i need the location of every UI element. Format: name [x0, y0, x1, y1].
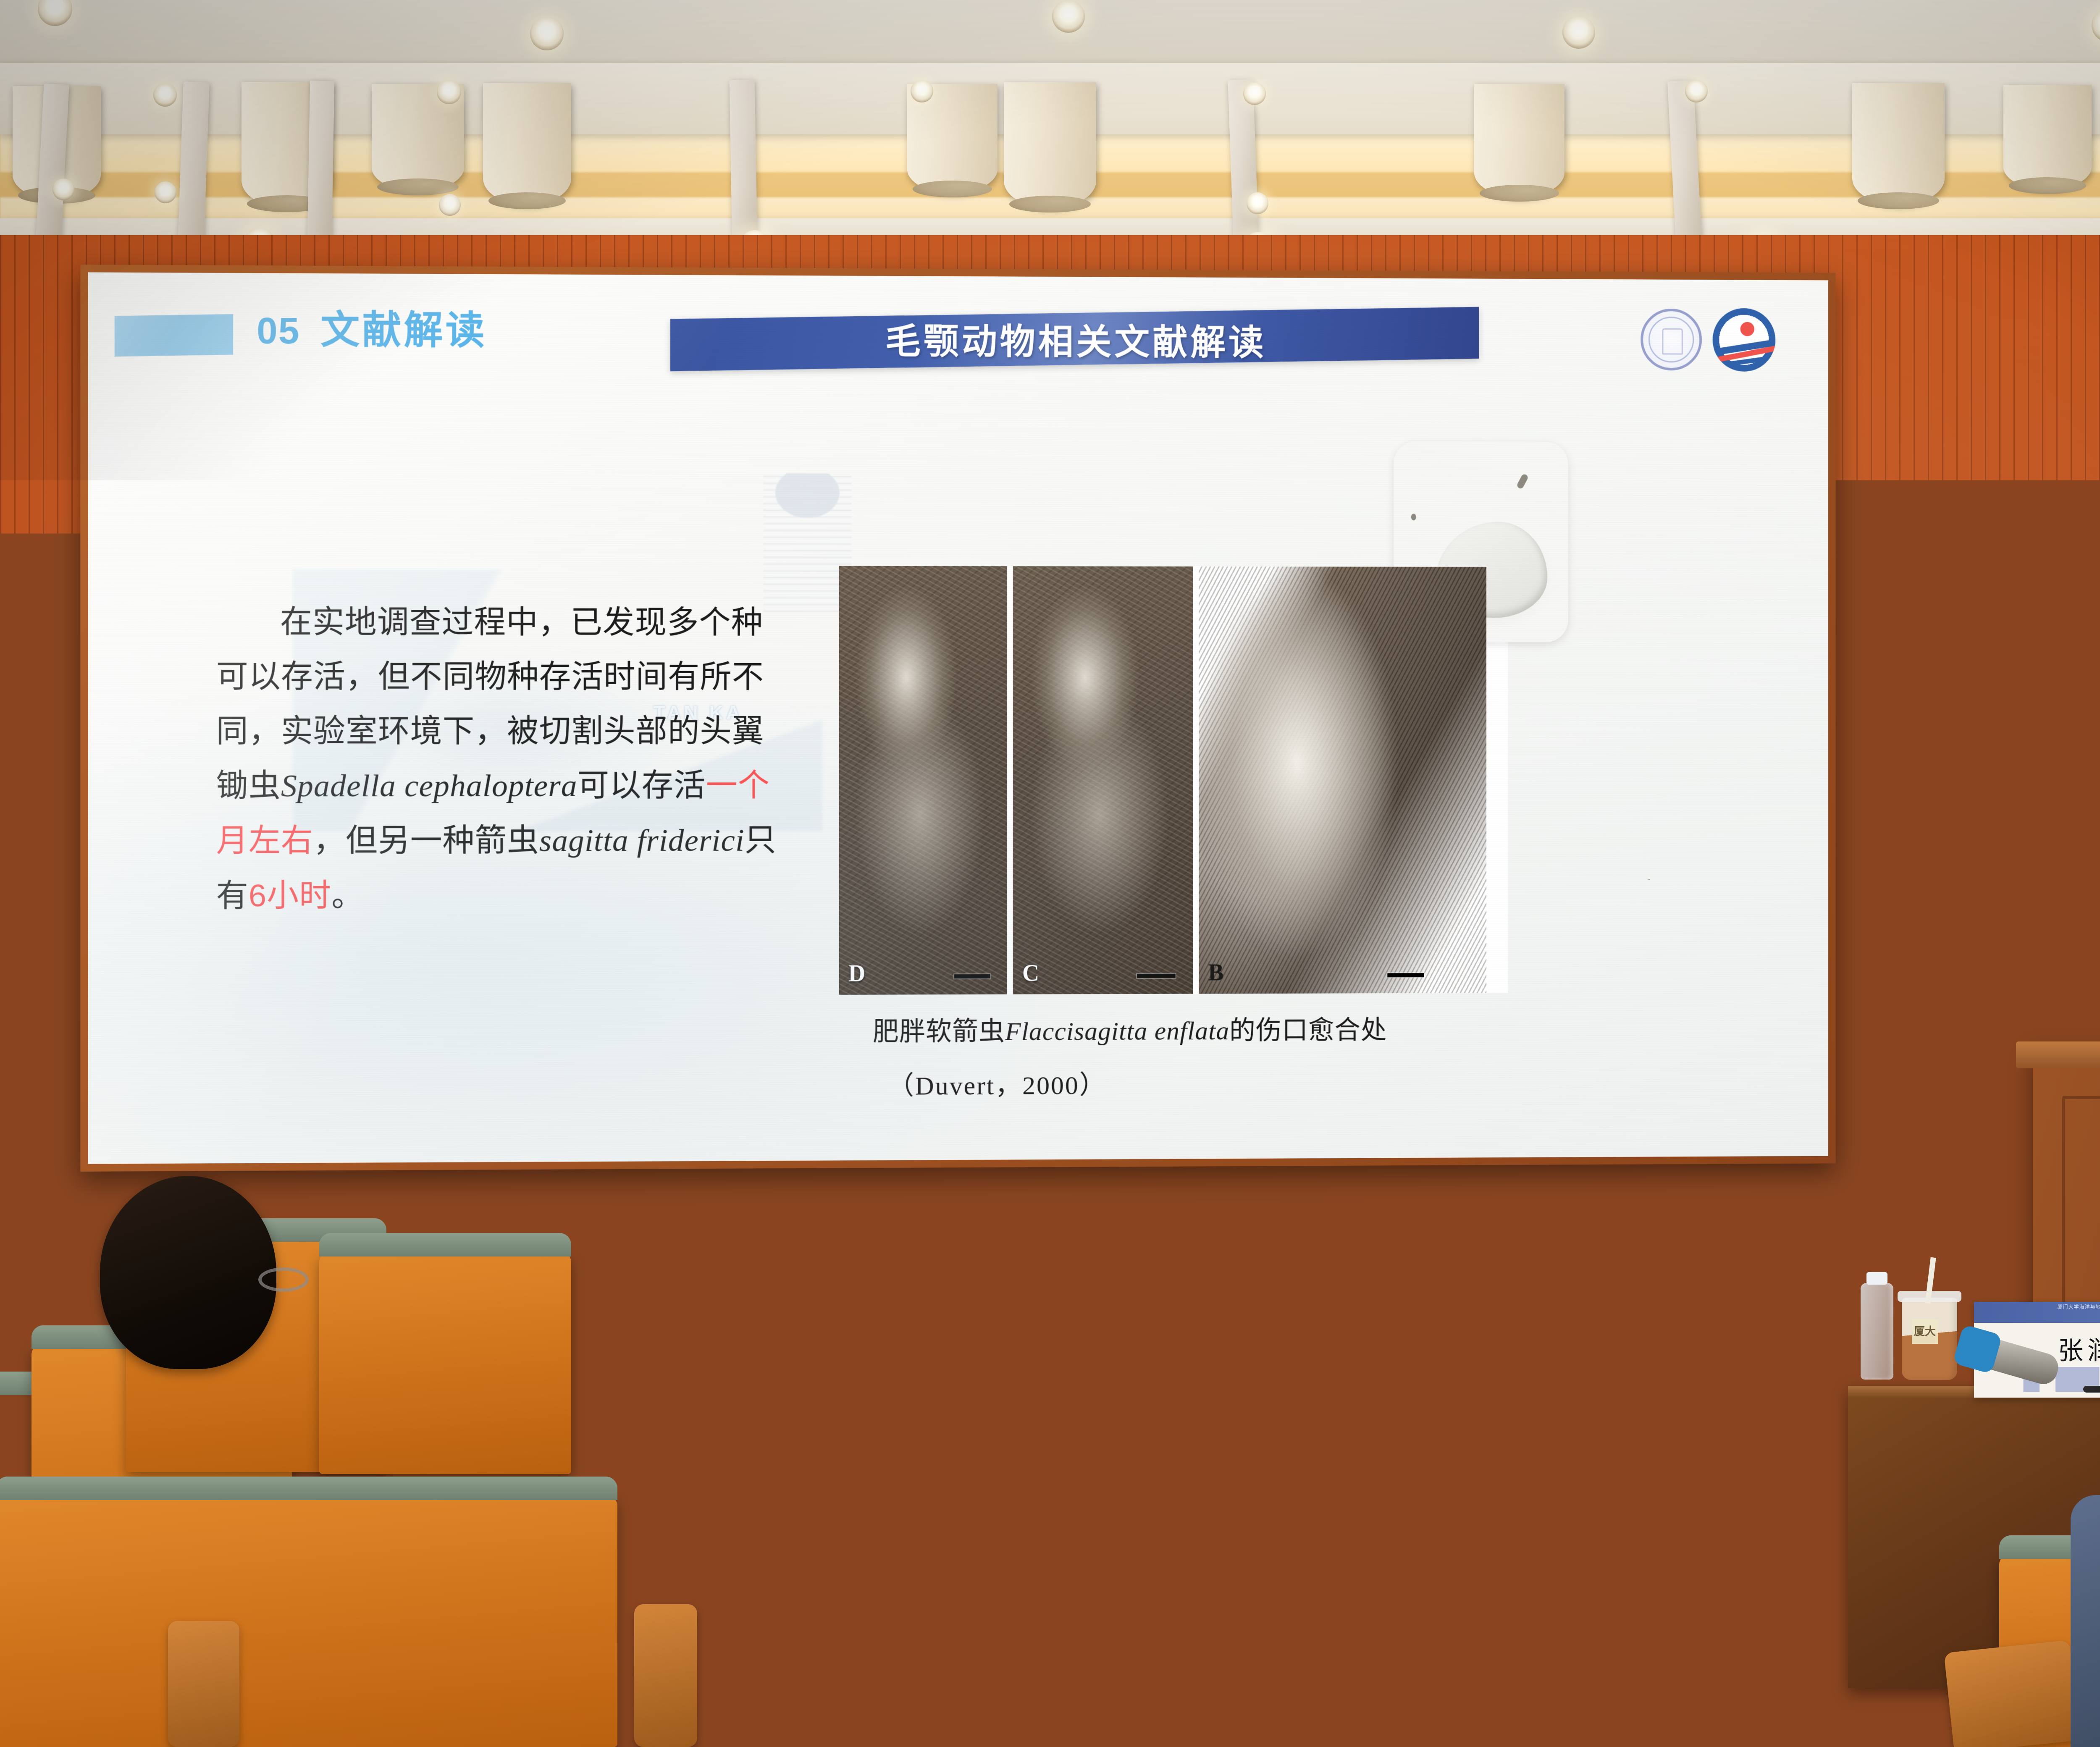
pen-left-desk [638, 1411, 706, 1418]
cup-label-text: 厦大 [1912, 1319, 1938, 1343]
recessed-downlight [1243, 82, 1266, 105]
projection-screen-frame: TAN KA 05 文献解读 毛颚动物相关文献解读 在实地调查过程中，已发现多个… [80, 265, 1835, 1172]
slide-body-line: 有6小时。 [216, 867, 852, 923]
auditorium-seat[interactable] [319, 1251, 571, 1474]
name-card-header-bar: 厦门大学海洋与地球学院 [1974, 1302, 2100, 1323]
recessed-downlight [437, 80, 461, 104]
panel-label-c: C [1022, 960, 1039, 987]
recessed-downlight [1247, 192, 1268, 214]
pendant-cylinder-light [483, 83, 571, 205]
side-desk-left [622, 1398, 765, 1634]
scale-bar [954, 974, 990, 978]
audience-member-head [100, 1176, 276, 1369]
audience-member-glasses [258, 1267, 309, 1292]
body-text: 同，实验室环境下，被切割头部的头翼 [216, 713, 764, 749]
pen [2083, 1386, 2100, 1393]
seat-armrest [168, 1621, 239, 1747]
marine-institute-logo-icon [1713, 308, 1776, 372]
body-text: 可以存活 [577, 767, 706, 803]
recessed-downlight [1562, 16, 1595, 49]
audience-member-seated-left-of-desk [2071, 1495, 2100, 1747]
caption-cn-post: 的伤口愈合处 [1229, 1016, 1387, 1045]
slide-body-paragraph: 在实地调查过程中，已发现多个种可以存活，但不同物种存活时间有所不同，实验室环境下… [216, 595, 852, 923]
body-text: 有 [216, 878, 249, 913]
body-text: 在实地调查过程中，已发现多个种 [280, 604, 763, 640]
projection-screen: TAN KA 05 文献解读 毛颚动物相关文献解读 在实地调查过程中，已发现多个… [88, 272, 1828, 1164]
recessed-downlight [1052, 0, 1085, 33]
figure-caption: 肥胖软箭虫Flaccisagitta enflata的伤口愈合处 （Duvert… [873, 1009, 1525, 1108]
podium-front-panel [2062, 1096, 2100, 1331]
recessed-downlight [1685, 80, 1708, 102]
caption-reference: （Duvert，2000） [888, 1062, 1525, 1108]
body-text: ，但另一种箭虫 [313, 822, 539, 858]
cup-label: 厦大 [1912, 1319, 1938, 1344]
pendant-cylinder-light [1474, 84, 1564, 197]
body-text: 。 [331, 877, 364, 913]
name-card-side-name: 鸿 [610, 1345, 680, 1370]
recessed-downlight [153, 83, 177, 107]
scale-bar [1387, 973, 1424, 977]
name-card-side-header [610, 1308, 680, 1333]
slide-title-bar: 毛颚动物相关文献解读 [670, 307, 1479, 371]
sem-panel-d: D [839, 566, 1007, 995]
slide-section-tag-box [115, 314, 234, 357]
slide-watermark-logo [763, 473, 852, 612]
ceiling-beam [730, 80, 758, 246]
highlighted-text: 6小时 [249, 877, 331, 913]
highlighted-text: 一个 [706, 767, 770, 803]
milk-tea-cup: 厦大 [1902, 1298, 1957, 1380]
recessed-downlight [911, 80, 933, 102]
slide-body-line: 在实地调查过程中，已发现多个种 [216, 595, 852, 650]
slide-section-number: 05 [257, 312, 300, 349]
water-bottle [1861, 1283, 1893, 1380]
seat-armrest [634, 1604, 697, 1747]
slide-logo-group [1641, 308, 1775, 372]
pendant-cylinder-light [1852, 83, 1945, 205]
slide-body-line: 锄虫Spadella cephaloptera可以存活一个 [216, 758, 852, 813]
species-name: Spadella cephaloptera [281, 768, 577, 803]
name-card-side: 鸿 [610, 1308, 680, 1405]
panel-label-b: B [1208, 959, 1223, 986]
name-card-institution: 厦门大学海洋与地球学院 [1974, 1302, 2100, 1312]
sem-panel-b: B [1199, 567, 1486, 994]
recessed-downlight [439, 194, 461, 216]
slide-section-title: 文献解读 [320, 311, 487, 350]
slide-figure: D C B 肥胖软箭虫Flaccisagitta en [839, 566, 1570, 995]
podium-top-surface [2016, 1041, 2100, 1068]
sem-panel-c: C [1013, 566, 1193, 994]
auditorium-seat-front[interactable] [0, 1495, 617, 1747]
sem-panel-group: D C B [839, 566, 1508, 995]
slide-title-text: 毛颚动物相关文献解读 [885, 313, 1267, 365]
caption-cn-pre: 肥胖软箭虫 [873, 1017, 1005, 1047]
highlighted-text: 月左右 [216, 823, 313, 858]
xiamen-university-seal-icon [1641, 309, 1702, 370]
slide-body-line: 月左右，但另一种箭虫sagitta friderici只 [216, 813, 852, 868]
species-name: sagitta friderici [539, 823, 745, 858]
body-text: 只 [745, 822, 777, 857]
scale-bar [1137, 974, 1176, 978]
pendant-cylinder-light [2003, 85, 2092, 190]
slide-body-line: 可以存活，但不同物种存活时间有所不 [216, 649, 852, 704]
slide-body-line: 同，实验室环境下，被切割头部的头翼 [216, 704, 852, 758]
panel-label-d: D [848, 960, 866, 987]
recessed-downlight [52, 178, 74, 200]
auditorium-scene: TAN KA 05 文献解读 毛颚动物相关文献解读 在实地调查过程中，已发现多个… [0, 0, 2100, 1747]
ceiling-beam [307, 81, 335, 241]
caption-species-name: Flaccisagitta enflata [1005, 1017, 1229, 1046]
body-text: 可以存活，但不同物种存活时间有所不 [216, 658, 764, 694]
recessed-downlight [530, 17, 564, 50]
body-text: 锄虫 [216, 768, 281, 803]
recessed-downlight [155, 181, 176, 203]
pendant-cylinder-light [1004, 82, 1096, 208]
seat-armrest-right [1944, 1640, 2079, 1747]
